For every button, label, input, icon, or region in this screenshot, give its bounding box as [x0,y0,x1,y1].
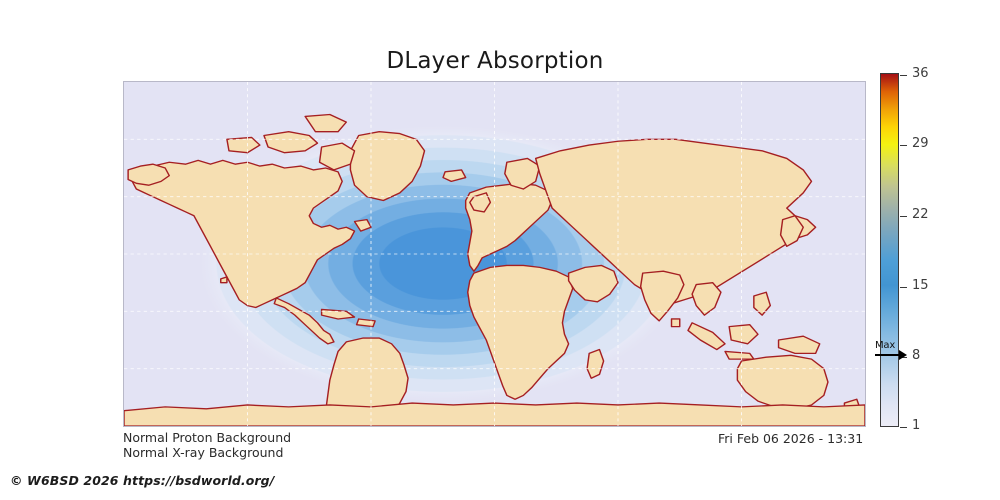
tick-label: 8 [912,348,920,363]
world-map [124,82,865,426]
tick-label: 36 [912,66,929,81]
tick-mark [900,216,907,217]
colorbar[interactable] [880,73,899,427]
sri-lanka-outline [672,319,680,327]
timestamp-annotation: Fri Feb 06 2026 - 13:31 [718,431,863,446]
xray-background-status: Normal X-ray Background [123,445,291,460]
tick-label: 1 [912,418,920,433]
tick-mark [900,357,907,358]
page-title: DLayer Absorption [0,48,990,74]
proton-background-status: Normal Proton Background [123,430,291,445]
tick-mark [900,287,907,288]
map-plot-area[interactable] [123,81,866,427]
tick-mark [900,427,907,428]
background-status-annotations: Normal Proton Background Normal X-ray Ba… [123,430,291,460]
tick-mark [900,75,907,76]
tick-mark [900,145,907,146]
copyright-credit: © W6BSD 2026 https://bsdworld.org/ [10,473,274,488]
figure-canvas: DLayer Absorption [0,0,1000,500]
hispaniola-outline [357,319,376,327]
tick-label: 22 [912,207,929,222]
tick-label: 15 [912,278,929,293]
colorbar-gradient [881,74,898,426]
tick-label: 29 [912,136,929,151]
